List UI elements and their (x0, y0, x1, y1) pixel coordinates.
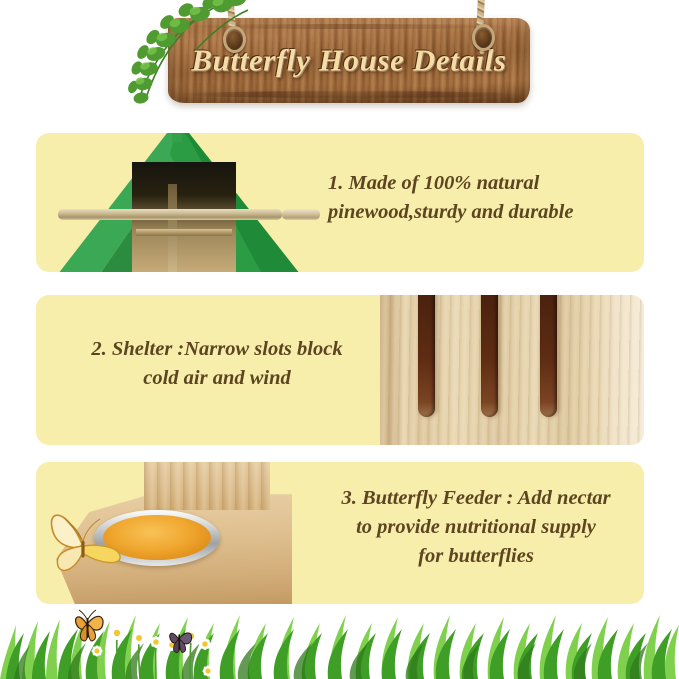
perch-dowel (58, 209, 282, 220)
feature-3-text: 3. Butterfly Feeder : Add nectar to prov… (316, 484, 636, 571)
feature-3-line-2: to provide nutritional supply (316, 513, 636, 542)
inner-shelf (136, 229, 232, 236)
shelter-slot (540, 295, 557, 417)
feature-panel-2: 2. Shelter :Narrow slots block cold air … (36, 295, 644, 445)
feature-2-line-2: cold air and wind (52, 364, 382, 393)
inner-divider (168, 184, 177, 272)
grommet-right-icon (472, 24, 495, 51)
feature-1-image (36, 133, 304, 272)
feature-3-line-3: for butterflies (316, 542, 636, 571)
feature-2-text: 2. Shelter :Narrow slots block cold air … (52, 335, 382, 393)
ivy-leaves-icon (122, 0, 252, 110)
daisy (110, 626, 125, 641)
feature-3-line-1: 3. Butterfly Feeder : Add nectar (316, 484, 636, 513)
feature-1-text: 1. Made of 100% natural pinewood,sturdy … (328, 169, 638, 227)
feeder-post (144, 462, 270, 510)
header-sign: Butterfly House Details (0, 0, 679, 128)
feature-1-line-2: pinewood,sturdy and durable (328, 198, 638, 227)
daisy (132, 631, 146, 645)
feature-2-line-1: 2. Shelter :Narrow slots block (52, 335, 382, 364)
shelter-slot (481, 295, 498, 417)
feature-3-image (36, 462, 296, 604)
butterfly-icon (42, 504, 128, 580)
perch-dowel-tip (282, 209, 320, 220)
shelter-slot (418, 295, 435, 417)
feature-2-image (380, 295, 644, 445)
feature-1-line-1: 1. Made of 100% natural (328, 169, 638, 198)
feature-panel-3: 3. Butterfly Feeder : Add nectar to prov… (36, 462, 644, 604)
feature-panel-1: 1. Made of 100% natural pinewood,sturdy … (36, 133, 644, 272)
grass-border (0, 595, 679, 679)
